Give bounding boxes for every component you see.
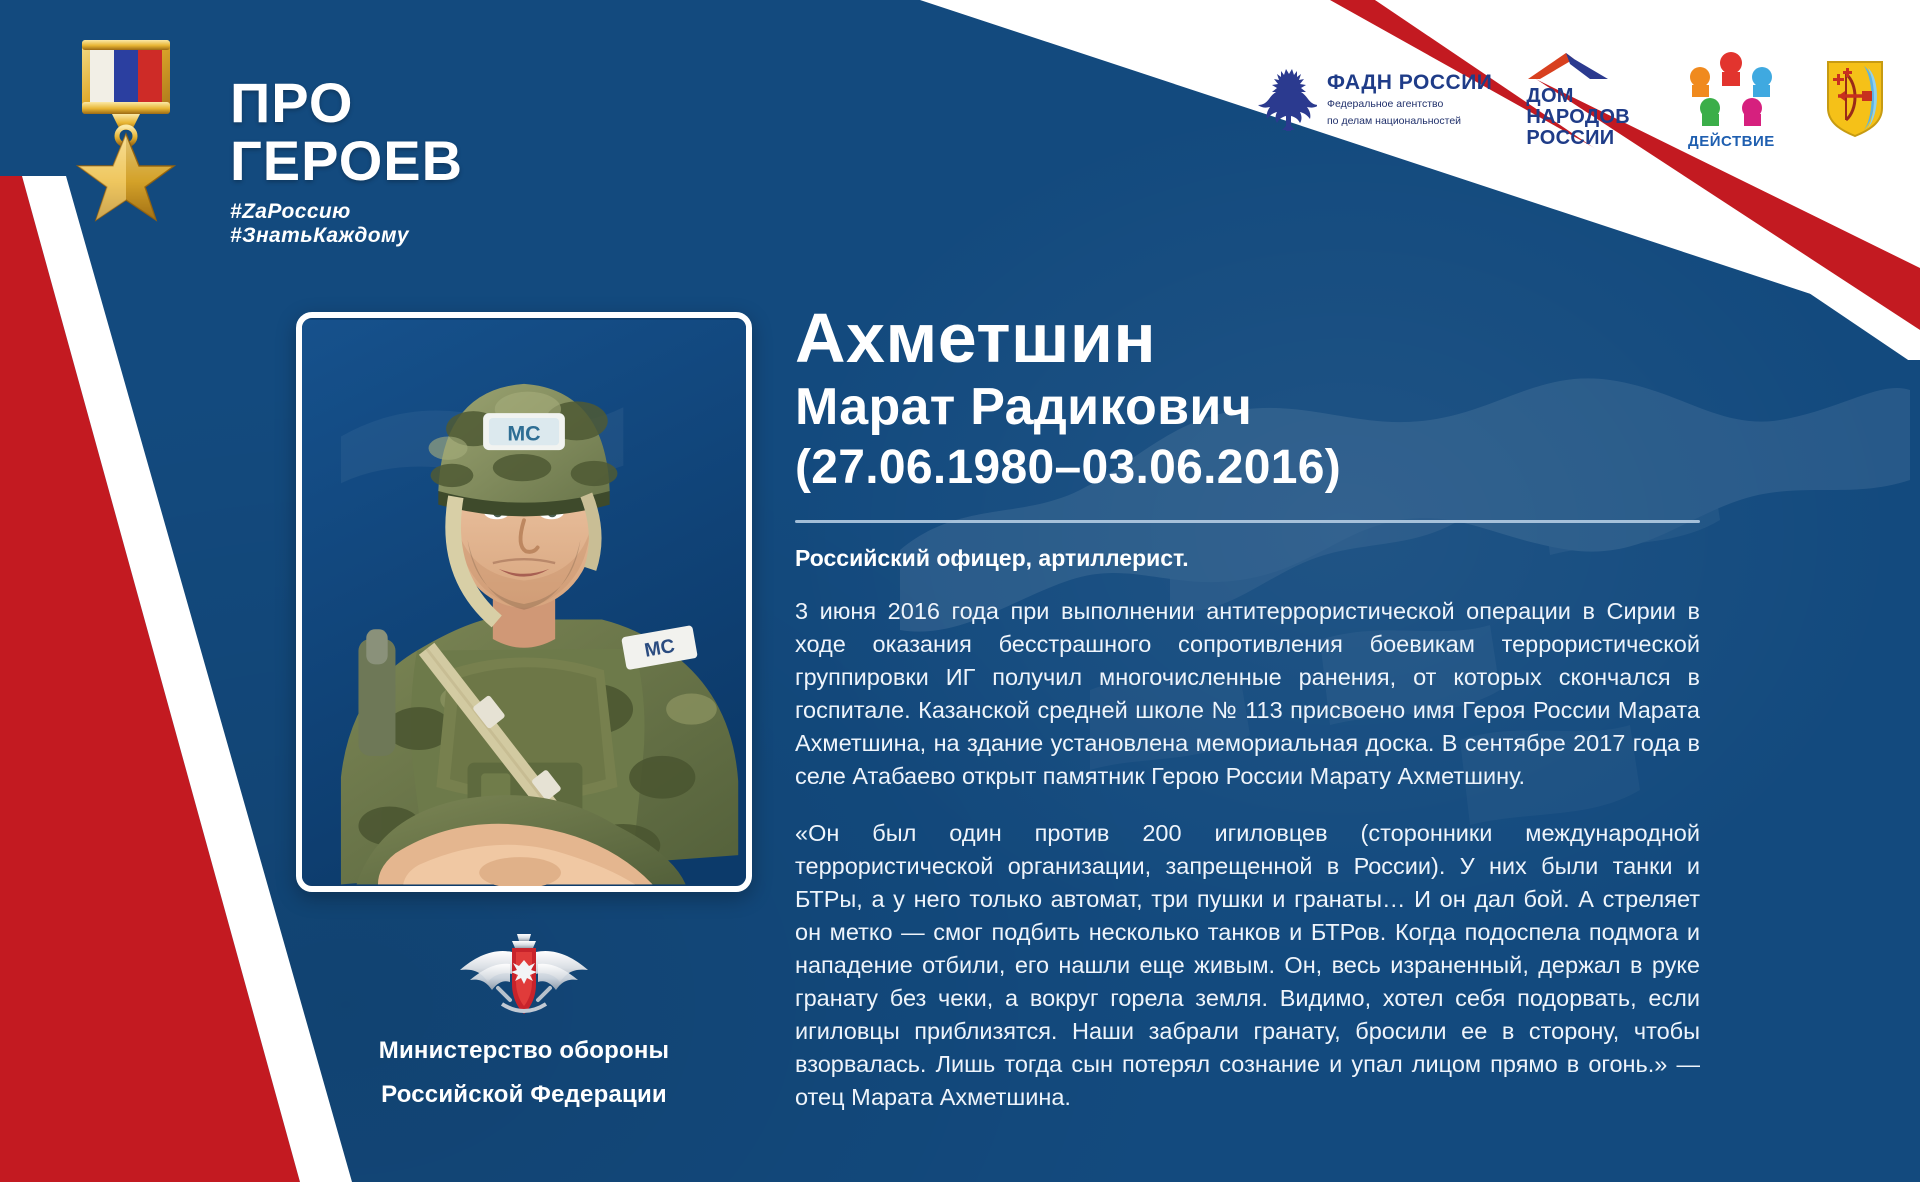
partner-dom-line3: РОССИИ	[1526, 128, 1638, 149]
partner-fadn-subtitle-line2: по делам национальностей	[1327, 115, 1492, 128]
hero-info-panel: Ахметшин Марат Радикович (27.06.1980–03.…	[795, 300, 1700, 1114]
brand-block: ПРО ГЕРОЕВ #ZaРоссию #ЗнатьКаждому	[62, 30, 532, 230]
partner-logo-deystvie: ДЕЙСТВИЕ	[1672, 50, 1790, 150]
partner-fadn-title: ФАДН РОССИИ	[1327, 72, 1492, 94]
poster-canvas: ПРО ГЕРОЕВ #ZaРоссию #ЗнатьКаждому ФАДН …	[0, 0, 1920, 1182]
svg-text:МС: МС	[507, 421, 540, 445]
hero-occupation: Российский офицер, артиллерист.	[795, 543, 1700, 573]
russian-double-headed-eagle-icon	[1255, 65, 1317, 136]
brand-text: ПРО ГЕРОЕВ #ZaРоссию #ЗнатьКаждому	[230, 74, 532, 248]
partner-logos: ФАДН РОССИИ Федеральное агентство по дел…	[1255, 50, 1886, 150]
ministry-caption-line2: Российской Федерации	[296, 1080, 752, 1110]
partner-dom-line2: НАРОДОВ	[1526, 107, 1638, 128]
partner-deystvie-title: ДЕЙСТВИЕ	[1688, 133, 1775, 150]
hero-biography-paragraph: 3 июня 2016 года при выполнении антитерр…	[795, 595, 1700, 793]
hero-name-patronymic: Марат Радикович	[795, 376, 1700, 438]
brand-title-line1: ПРО	[230, 74, 532, 132]
ministry-of-defence-block: Министерство обороны Российской Федераци…	[296, 930, 752, 1110]
brand-hashtags: #ZaРоссию #ЗнатьКаждому	[230, 200, 532, 248]
partner-logo-dom-narodov: ДОМ НАРОДОВ РОССИИ	[1526, 51, 1638, 149]
partner-logo-fadn: ФАДН РОССИИ Федеральное агентство по дел…	[1255, 65, 1492, 136]
title-divider	[795, 520, 1700, 523]
hero-portrait-photo: МС	[296, 312, 752, 892]
russian-ministry-of-defence-emblem-icon	[454, 930, 594, 1022]
house-roof-icon	[1526, 68, 1638, 85]
hero-quote-paragraph: «Он был один против 200 игиловцев (сторо…	[795, 817, 1700, 1114]
partner-dom-line1: ДОМ	[1526, 86, 1638, 107]
hero-surname: Ахметшин	[795, 300, 1700, 376]
ministry-caption-line1: Министерство обороны	[296, 1036, 752, 1066]
colored-people-flower-icon	[1672, 50, 1790, 133]
hero-life-dates: (27.06.1980–03.06.2016)	[795, 438, 1700, 498]
hero-of-russia-medal-icon	[66, 34, 186, 230]
partner-fadn-subtitle-line1: Федеральное агентство	[1327, 98, 1492, 111]
brand-title-line2: ГЕРОЕВ	[230, 132, 532, 190]
kirov-oblast-coat-of-arms-icon	[1824, 58, 1886, 143]
